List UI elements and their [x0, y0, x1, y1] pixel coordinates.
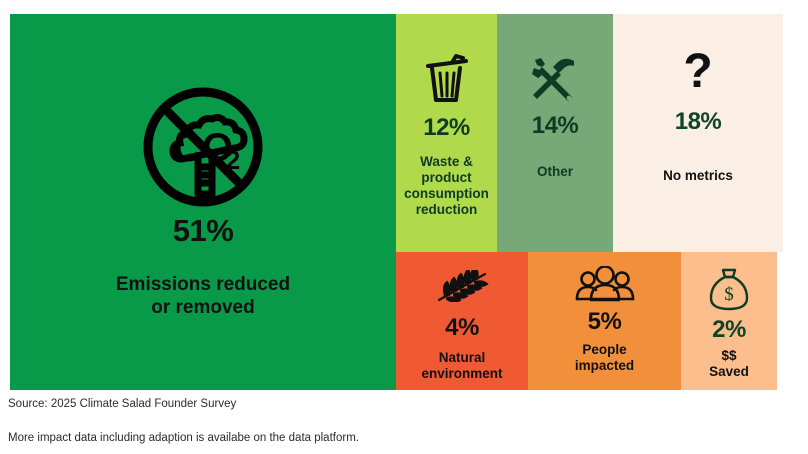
impact-metrics-infographic: CO 2 51% Emissions reduced or removed [0, 0, 808, 454]
people-percent: 5% [588, 310, 622, 334]
emissions-percent: 51% [173, 215, 234, 246]
people-label: People impacted [575, 342, 634, 374]
footer: Source: 2025 Climate Salad Founder Surve… [8, 398, 708, 444]
trash-bin-icon [423, 54, 471, 104]
waste-label-line4: reduction [416, 202, 478, 217]
other-label: Other [537, 164, 573, 180]
emissions-label-line2: or removed [151, 297, 254, 318]
svg-text:?: ? [683, 52, 712, 98]
panel-money-saved: $ 2% $$ Saved [681, 252, 777, 390]
saved-label-line1: $$ [721, 348, 736, 363]
hammer-wrench-icon [529, 56, 581, 102]
people-group-icon [574, 266, 636, 302]
leaf-branch-icon [435, 270, 489, 302]
panel-natural-environment: 4% Natural environment [396, 252, 528, 390]
no-co2-emissions-icon: CO 2 [141, 85, 265, 209]
people-label-line2: impacted [575, 358, 634, 373]
footer-note: More impact data including adaption is a… [8, 432, 708, 444]
waste-label: Waste & product consumption reduction [399, 154, 495, 218]
people-label-line1: People [582, 342, 626, 357]
svg-text:$: $ [724, 284, 734, 305]
natural-label: Natural environment [421, 350, 502, 382]
question-mark-icon: ? [678, 52, 718, 100]
saved-label: $$ Saved [709, 348, 749, 380]
panel-other: 14% Other [497, 14, 613, 252]
waste-label-line1: Waste & [420, 154, 473, 169]
saved-percent: 2% [712, 318, 746, 342]
panel-people-impacted: 5% People impacted [528, 252, 681, 390]
saved-label-line2: Saved [709, 364, 749, 379]
money-bag-icon: $ [707, 266, 751, 312]
panel-no-metrics: ? 18% No metrics [613, 14, 783, 252]
no-metrics-percent: 18% [675, 110, 722, 134]
emissions-label: Emissions reduced or removed [116, 274, 290, 319]
waste-label-line3: consumption [404, 186, 489, 201]
natural-label-line1: Natural [439, 350, 486, 365]
other-percent: 14% [532, 114, 579, 138]
no-metrics-label: No metrics [663, 168, 733, 184]
panel-waste-reduction: 12% Waste & product consumption reductio… [396, 14, 497, 252]
emissions-label-line1: Emissions reduced [116, 274, 290, 295]
source-text: Source: 2025 Climate Salad Founder Surve… [8, 398, 708, 410]
natural-label-line2: environment [421, 366, 502, 381]
panel-emissions-reduced: CO 2 51% Emissions reduced or removed [10, 14, 396, 390]
natural-percent: 4% [445, 316, 479, 340]
waste-percent: 12% [423, 116, 470, 140]
waste-label-line2: product [421, 170, 471, 185]
